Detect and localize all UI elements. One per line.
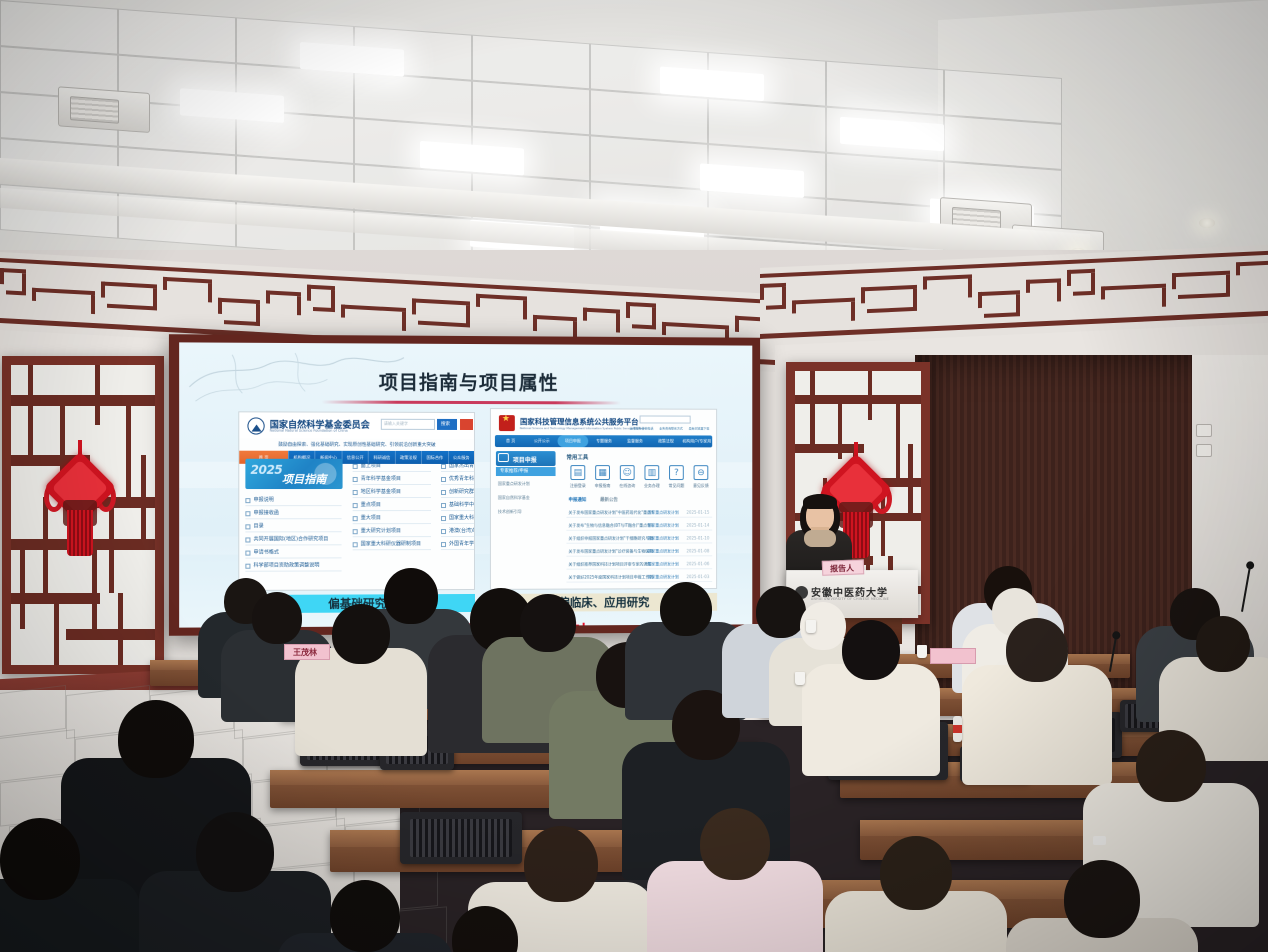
lattice-bar <box>1026 280 1030 293</box>
tool-3[interactable]: ▥ 业务办理 <box>491 409 716 410</box>
person-head <box>842 620 900 680</box>
list-item[interactable]: 地区科学基金项目 <box>353 487 431 498</box>
list-item[interactable]: 重点项目 <box>353 500 431 511</box>
lattice-bar <box>792 298 855 305</box>
row-title: 关于做好2025年度国家科技计划项目申报工作的通知 <box>568 574 653 580</box>
lattice-bar <box>476 294 527 301</box>
checkbox-icon <box>441 542 446 547</box>
most-nav-label: 机构用户/专家用户 <box>681 435 712 459</box>
list-item[interactable]: 外国青年学者研究基金项目 <box>441 539 475 550</box>
lattice-bar <box>851 302 855 321</box>
lecture-hall-photo: 项目指南与项目属性 国家自然科学基金委员会 National Natural S… <box>0 0 1268 952</box>
lattice-bar <box>662 322 666 335</box>
list-item-label: 目录 <box>254 522 264 529</box>
most-tool-grid[interactable]: ▤ 注册登录 ▦ 申报指南 ☺ 在线咨询 ▥ 业务办理 ? 常见问题 ⊖ 意见反… <box>491 409 716 410</box>
checkbox-icon <box>441 516 446 521</box>
most-search-input[interactable] <box>640 415 691 423</box>
search-placeholder: 请输入关键字 <box>384 421 408 427</box>
lattice-bar <box>810 371 814 444</box>
person-head <box>1064 860 1140 938</box>
most-notice-list[interactable]: 关于发布国家重点研发计划"中医药现代化"重点专项2025年度项目申报指南的通知 … <box>491 409 716 410</box>
lattice-bar <box>533 315 577 321</box>
lattice-bar <box>218 298 260 304</box>
tool-1[interactable]: ▦ 申报指南 <box>491 409 716 410</box>
row-date: 2025-01-14 <box>686 522 709 527</box>
list-item[interactable]: 港澳(台湾)地区科研合作交流项目 <box>441 526 475 537</box>
checkbox-icon <box>245 524 250 529</box>
lattice-bar <box>20 539 25 629</box>
most-nav-item-0[interactable]: 首 页 <box>495 435 526 447</box>
lattice-bar <box>297 296 301 315</box>
row-tag: 国家重点研发计划 <box>647 522 678 528</box>
row-title: 关于组织申报国家重点研发计划"干细胞研究与器官修复"重点专项的通知 <box>568 535 653 541</box>
lattice-bar <box>632 324 652 329</box>
podium-institution-en: ANHUI UNIVERSITY OF CHINESE MEDICINE <box>811 597 889 601</box>
guide-banner-2025[interactable]: 2025 项目指南 <box>245 459 342 489</box>
national-emblem-icon <box>499 415 515 431</box>
tab-1[interactable]: 最新公告 <box>600 497 618 503</box>
lattice-bar <box>978 292 982 308</box>
lattice-bar <box>153 288 157 310</box>
list-item-label: 面上项目 <box>361 462 381 469</box>
speaker-hair-front <box>803 494 837 509</box>
person-head <box>1196 616 1250 672</box>
nsfc-tagline: 鼓励自由探索、强化基础研究、实现原创性基础研究、引领前沿创新重大突破 <box>239 442 474 448</box>
tool-icon: ? <box>669 465 684 480</box>
top-link[interactable]: 运维服务咨询电话 <box>630 426 654 430</box>
lattice-bar <box>735 316 739 332</box>
person-body <box>802 664 940 776</box>
lattice-bar <box>32 288 95 295</box>
most-sidebar-items[interactable]: 国家重点研发计划国家自然科学基金技术创新引导 <box>491 409 716 410</box>
most-nav-label: 首 页 <box>495 435 526 447</box>
banner-year: 2025 <box>250 463 282 477</box>
row-tag: 国家重点研发计划 <box>647 574 678 580</box>
table-row[interactable]: 关于发布"生物与信息融合(BT与IT融合)"重点专项2025年度项目申报指南的通… <box>566 521 712 531</box>
person-head <box>330 880 400 952</box>
checkbox-icon <box>245 511 250 516</box>
lattice-bar <box>923 276 927 289</box>
paper-cup <box>806 620 816 633</box>
person-head <box>524 826 598 902</box>
person-head <box>660 582 712 636</box>
lattice-bar <box>861 285 917 292</box>
list-item[interactable]: 国家重大科研仪器研制项目 <box>353 539 431 550</box>
list-item[interactable]: 共同开展国际(地区)合作研究项目 <box>245 534 341 545</box>
lattice-bar <box>1236 262 1240 275</box>
lattice-bar <box>266 290 301 296</box>
person-head <box>252 592 302 644</box>
list-item-label: 重大研究计划项目 <box>361 527 401 534</box>
tools-title: 常用工具 <box>566 453 588 461</box>
list-item[interactable]: 申报接收函 <box>245 508 341 519</box>
lattice-bar <box>141 455 146 545</box>
lattice-bar <box>266 290 270 303</box>
row-title: 关于发布"生物与信息融合(BT与IT融合)"重点专项2025年度项目申报指南的通… <box>568 522 653 528</box>
banner-text: 项目指南 <box>282 471 327 487</box>
person-head <box>384 568 438 624</box>
top-link[interactable]: 最新浏览器下载 <box>689 427 710 431</box>
person-body <box>295 648 427 756</box>
list-item-label: 申报接收函 <box>254 509 279 516</box>
checkbox-icon <box>441 503 446 508</box>
lattice-bar <box>341 304 406 312</box>
list-item-label: 外国青年学者研究基金项目 <box>449 540 475 547</box>
most-list-tabs[interactable]: 申报通知最新公告 <box>491 409 716 410</box>
table-row[interactable]: 关于发布国家重点研发计划"中医药现代化"重点专项2025年度项目申报指南的通知 … <box>566 508 712 518</box>
person-head <box>118 700 194 778</box>
lattice-bar <box>224 320 256 326</box>
lattice-bar <box>861 287 865 303</box>
list-item[interactable]: 优秀青年科学基金项目 <box>441 474 475 485</box>
list-item-label: 创新研究群体项目 <box>449 488 475 495</box>
lattice-bar <box>412 298 416 314</box>
checkbox-icon <box>441 476 446 481</box>
lattice-bar <box>662 322 729 330</box>
tool-icon: ▤ <box>570 465 585 480</box>
tool-0[interactable]: ▤ 注册登录 <box>491 409 716 410</box>
presentation-slide: 项目指南与项目属性 国家自然科学基金委员会 National Natural S… <box>179 342 752 627</box>
list-item-label: 共同开展国际(地区)合作研究项目 <box>254 535 329 542</box>
row-date: 2025-01-08 <box>686 548 709 553</box>
name-placard-label: 王茂林 <box>293 647 317 658</box>
list-item-label: 优秀青年科学基金项目 <box>449 475 475 482</box>
row-date: 2025-01-10 <box>686 535 709 540</box>
list-item-label: 重点项目 <box>361 501 381 508</box>
most-name-en: National Science and Technology Manageme… <box>520 426 646 430</box>
lattice-bar <box>101 281 105 297</box>
checkbox-icon <box>441 463 446 468</box>
lattice-bar <box>163 277 167 290</box>
list-item-label: 国家杰出青年科学基金项目 <box>449 462 475 469</box>
tissue <box>1093 836 1106 845</box>
lattice-bar <box>896 395 900 478</box>
paper-cup <box>795 672 805 685</box>
lattice-bar <box>1172 273 1176 289</box>
lattice-bar <box>313 307 331 312</box>
hot-button[interactable] <box>460 419 473 430</box>
person-body <box>962 665 1112 785</box>
checkbox-icon <box>245 550 250 555</box>
person-head <box>332 604 390 664</box>
checkbox-icon <box>245 537 250 542</box>
tool-label: 意见反馈 <box>687 483 715 489</box>
person-head <box>1006 618 1068 682</box>
lattice-bar <box>652 307 656 329</box>
person-head <box>756 586 806 638</box>
checkbox-icon <box>353 490 358 495</box>
most-nav-item-3[interactable]: 专题服务 <box>588 435 619 447</box>
lattice-bar <box>402 312 406 331</box>
slide-title: 项目指南与项目属性 <box>179 367 752 396</box>
lattice-bar <box>1236 260 1268 266</box>
checkbox-icon <box>245 563 250 568</box>
lattice-bar <box>1026 278 1061 284</box>
list-item[interactable]: 申请书格式 <box>245 547 341 558</box>
lattice-bar <box>101 281 157 288</box>
person-head <box>880 836 952 910</box>
checkbox-icon <box>441 490 446 495</box>
tool-4[interactable]: ? 常见问题 <box>491 409 716 410</box>
most-nav-label: 专题服务 <box>588 435 619 447</box>
person-head <box>0 818 80 900</box>
checkbox-icon <box>353 542 358 547</box>
most-nav-item-1[interactable]: 公开公示 <box>526 435 557 447</box>
sidebar-item[interactable]: 国家重点研发计划 <box>498 481 530 487</box>
paper-cup <box>917 645 927 658</box>
lattice-bar <box>218 298 222 314</box>
most-nav-label: 政策法规 <box>650 435 681 447</box>
lattice-bar <box>126 395 131 497</box>
air-conditioner-vent <box>58 86 150 133</box>
tool-5[interactable]: ⊖ 意见反馈 <box>491 409 716 410</box>
lattice-bar <box>1067 270 1071 286</box>
speaker-placard-label: 报告人 <box>830 563 854 575</box>
downlight-icon <box>1199 218 1215 228</box>
lattice-bar <box>307 285 311 301</box>
tool-icon: ▦ <box>595 465 610 480</box>
lattice-bar <box>163 277 212 284</box>
list-item-label: 申报说明 <box>254 496 274 503</box>
lattice-bar <box>412 298 470 305</box>
list-item-label: 科学部项目资助政策调整说明 <box>254 561 320 568</box>
lattice-bar <box>923 274 972 280</box>
lattice-bar <box>1226 275 1230 297</box>
row-title: 关于发布国家重点研发计划"中医药现代化"重点专项2025年度项目申报指南的通知 <box>568 509 653 515</box>
list-item-label: 地区科学基金项目 <box>361 488 401 495</box>
chinese-knot-decoration-left <box>48 438 112 558</box>
row-tag: 国家重点研发计划 <box>647 548 678 554</box>
lattice-bar <box>1016 294 1020 316</box>
lattice-bar <box>626 302 630 318</box>
nsfc-name-en: National Natural Science Foundation of C… <box>270 429 348 433</box>
lattice-bar <box>766 305 782 310</box>
checkbox-icon <box>353 529 358 534</box>
name-placard: 王茂林 <box>284 644 330 660</box>
sidebar-title: 项目申报 <box>513 455 537 464</box>
person-head <box>1136 730 1206 802</box>
list-item-label: 国家重大科研仪器研制项目 <box>361 540 421 547</box>
wall-switch-icon <box>1196 444 1212 457</box>
lattice-bar <box>1073 291 1091 296</box>
checkbox-icon <box>245 498 250 503</box>
most-nav-label: 监督服务 <box>620 435 651 447</box>
lattice-bar <box>913 289 917 311</box>
lattice-bar <box>418 321 466 328</box>
lattice-bar <box>28 365 33 455</box>
search-button-label: 搜索 <box>441 421 450 427</box>
person-head <box>700 808 770 880</box>
lattice-bar <box>208 283 212 302</box>
most-nav-label: 公开公示 <box>526 435 557 447</box>
lattice-bar <box>107 304 153 310</box>
lattice-bar <box>523 300 527 319</box>
lattice-bar <box>533 315 537 331</box>
lattice-bar <box>341 304 345 317</box>
list-item-label: 重大项目 <box>361 514 381 521</box>
list-item[interactable]: 申报说明 <box>245 495 341 506</box>
row-date: 2025-01-03 <box>686 574 709 579</box>
lattice-bar <box>1057 282 1061 301</box>
list-item[interactable]: 重大研究计划项目 <box>353 526 431 537</box>
checkbox-icon <box>353 463 358 468</box>
lattice-bar <box>43 497 48 599</box>
row-date: 2025-01-15 <box>686 509 709 514</box>
list-item[interactable]: 国家杰出青年科学基金项目 <box>441 461 475 472</box>
sidebar-item[interactable]: 国家自然科学基金 <box>498 495 530 501</box>
checkbox-icon <box>353 516 358 521</box>
table-row[interactable]: 关于组织推荐国家科技计划项目评审专家的通知 国家重点研发计划 2025-01-0… <box>566 559 712 569</box>
lattice-bar <box>1101 286 1105 299</box>
wall-socket-icon <box>1196 424 1212 437</box>
clipboard-icon <box>498 453 509 462</box>
lattice-bar <box>1162 288 1166 307</box>
sidebar-item[interactable]: 技术创新引导 <box>498 509 522 515</box>
checkbox-icon <box>353 476 358 481</box>
table-row[interactable]: 关于组织申报国家重点研发计划"干细胞研究与器官修复"重点专项的通知 国家重点研发… <box>566 534 712 544</box>
lattice-bar <box>331 290 335 312</box>
most-nav-item-4[interactable]: 监督服务 <box>620 435 651 447</box>
lattice-bar <box>867 307 913 313</box>
water-bottle <box>953 716 962 742</box>
tool-icon: ☺ <box>620 465 635 480</box>
lattice-bar <box>1178 293 1226 299</box>
list-item-label: 基础科学中心项目 <box>449 501 475 508</box>
lattice-bar <box>1172 271 1230 278</box>
most-top-links[interactable]: 运维服务咨询电话业务咨询联系方式最新浏览器下载 <box>491 409 716 410</box>
list-item[interactable]: 国家重大科研仪器研制项目 <box>441 513 475 524</box>
list-item[interactable]: 目录 <box>245 521 341 532</box>
lattice-bar <box>1091 273 1095 295</box>
list-item[interactable]: 面上项目 <box>353 461 431 472</box>
nsfc-logo-icon <box>247 417 264 434</box>
most-nav-label: 项目申报 <box>557 435 588 447</box>
lattice-bar <box>118 593 123 665</box>
lattice-bar <box>908 444 912 517</box>
lattice-bar <box>583 308 620 314</box>
lattice-bar <box>616 313 620 332</box>
most-nav-item-5[interactable]: 政策法规 <box>650 435 681 447</box>
checkbox-icon <box>441 529 446 534</box>
tool-icon: ⊖ <box>694 465 709 480</box>
most-nav-item-6[interactable]: 机构用户/专家用户 <box>681 435 712 447</box>
lattice-bar <box>868 371 872 420</box>
lattice-bar <box>66 629 155 640</box>
lattice-bar <box>6 290 22 295</box>
list-item-label: 青年科学基金项目 <box>361 475 401 482</box>
checkbox-icon <box>353 503 358 508</box>
tool-2[interactable]: ☺ 在线咨询 <box>491 409 716 410</box>
top-link[interactable]: 业务咨询联系方式 <box>659 426 683 430</box>
person-head <box>520 594 576 652</box>
lattice-bar <box>466 305 470 327</box>
list-item-label: 申请书格式 <box>254 548 279 555</box>
lattice-bar <box>583 308 587 321</box>
chair[interactable] <box>400 812 522 864</box>
lattice-bar <box>978 290 1020 296</box>
sidebar-subtitle: 专家推荐/申报 <box>500 468 528 474</box>
row-title: 关于组织推荐国家科技计划项目评审专家的通知 <box>568 561 653 567</box>
row-tag: 国家重点研发计划 <box>647 509 678 515</box>
lattice-bar <box>54 593 59 665</box>
lattice-bar <box>476 294 480 307</box>
lattice-bar <box>760 284 764 300</box>
most-nav-item-2[interactable]: 项目申报 <box>557 435 588 447</box>
lattice-bar <box>984 312 1016 317</box>
lattice-bar <box>91 295 95 314</box>
speaker-placard: 报告人 <box>822 559 864 575</box>
row-date: 2025-01-06 <box>686 561 709 566</box>
tab-0[interactable]: 申报通知 <box>568 497 586 503</box>
table-row[interactable]: 关于发布国家重点研发计划"诊疗装备与生物医用材料"重点专项申报指南的通知 国家重… <box>566 546 712 556</box>
list-item[interactable]: 创新研究群体项目 <box>441 487 475 498</box>
lattice-bar <box>782 287 786 309</box>
lattice-bar <box>968 278 972 297</box>
most-navbar[interactable]: 首 页 公开公示 项目申报 专题服务 监督服务 政策法规 机构用户/专家用户 <box>495 435 712 447</box>
table-row[interactable]: 关于做好2025年度国家科技计划项目申报工作的通知 国家重点研发计划 2025-… <box>566 572 712 582</box>
name-placard <box>930 648 976 664</box>
list-item-label: 港澳(台湾)地区科研合作交流项目 <box>449 527 475 534</box>
most-platform-screenshot: 国家科技管理信息系统公共服务平台 National Science and Te… <box>490 408 717 590</box>
person-head <box>196 812 274 892</box>
list-item-label: 国家重大科研仪器研制项目 <box>449 514 475 521</box>
lattice-bar <box>22 273 26 295</box>
row-tag: 国家重点研发计划 <box>647 535 678 541</box>
lattice-bar <box>0 268 4 284</box>
tool-icon: ▥ <box>644 465 659 480</box>
lattice-bar <box>95 365 100 425</box>
row-tag: 国家重点研发计划 <box>647 561 678 567</box>
list-item[interactable]: 青年科学基金项目 <box>353 474 431 485</box>
lattice-bar <box>32 288 36 301</box>
list-item[interactable]: 科学部项目资助政策调整说明 <box>245 560 341 571</box>
list-item[interactable]: 重大项目 <box>353 513 431 524</box>
row-title: 关于发布国家重点研发计划"诊疗装备与生物医用材料"重点专项申报指南的通知 <box>568 548 653 554</box>
nsfc-website-screenshot: 国家自然科学基金委员会 National Natural Science Fou… <box>238 411 475 591</box>
lattice-bar <box>1101 284 1166 291</box>
list-item[interactable]: 基础科学中心项目 <box>441 500 475 511</box>
ceiling <box>0 0 1268 268</box>
lattice-bar <box>792 300 796 313</box>
lattice-bar <box>256 304 260 326</box>
speaker-scarf <box>804 530 836 547</box>
